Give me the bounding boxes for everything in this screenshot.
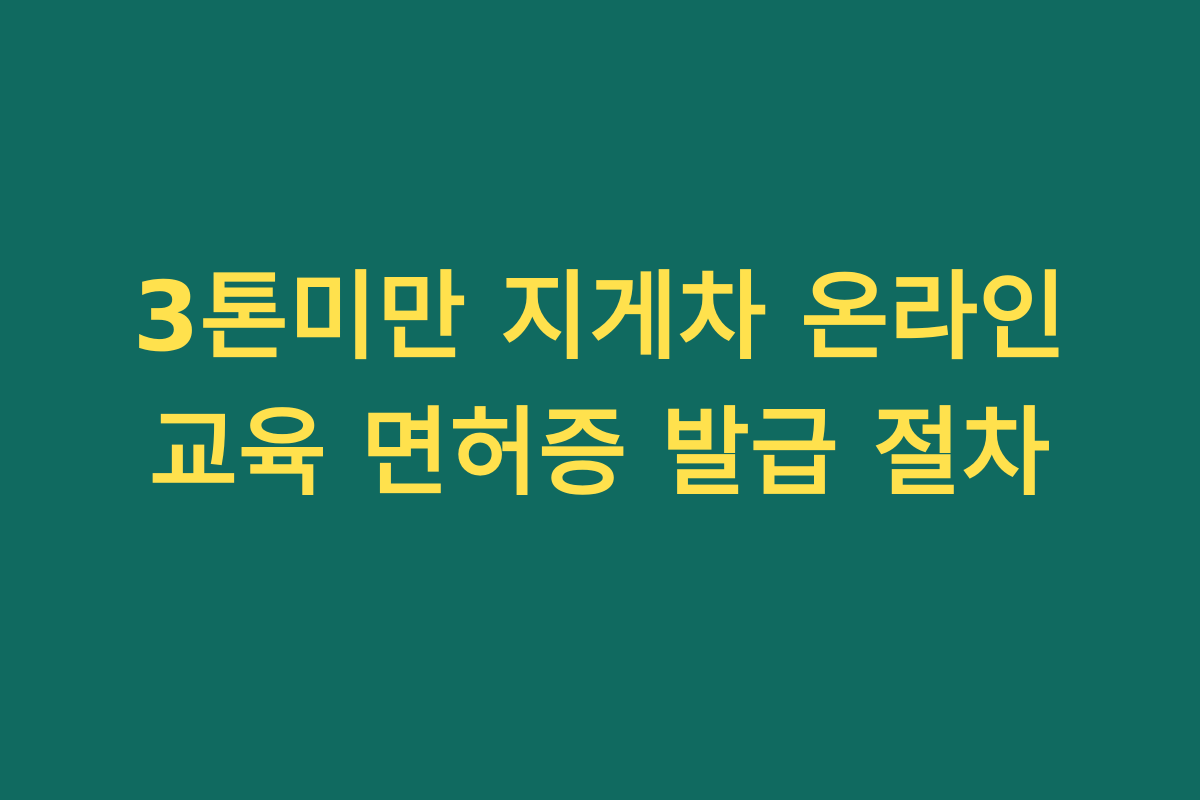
banner-title-block: 3톤미만 지게차 온라인 교육 면허증 발급 절차 xyxy=(0,249,1200,522)
banner-title-line-1: 3톤미만 지게차 온라인 xyxy=(0,249,1200,385)
banner-title-line-2: 교육 면허증 발급 절차 xyxy=(0,385,1200,521)
thumbnail-canvas: 3톤미만 지게차 온라인 교육 면허증 발급 절차 xyxy=(0,0,1200,800)
